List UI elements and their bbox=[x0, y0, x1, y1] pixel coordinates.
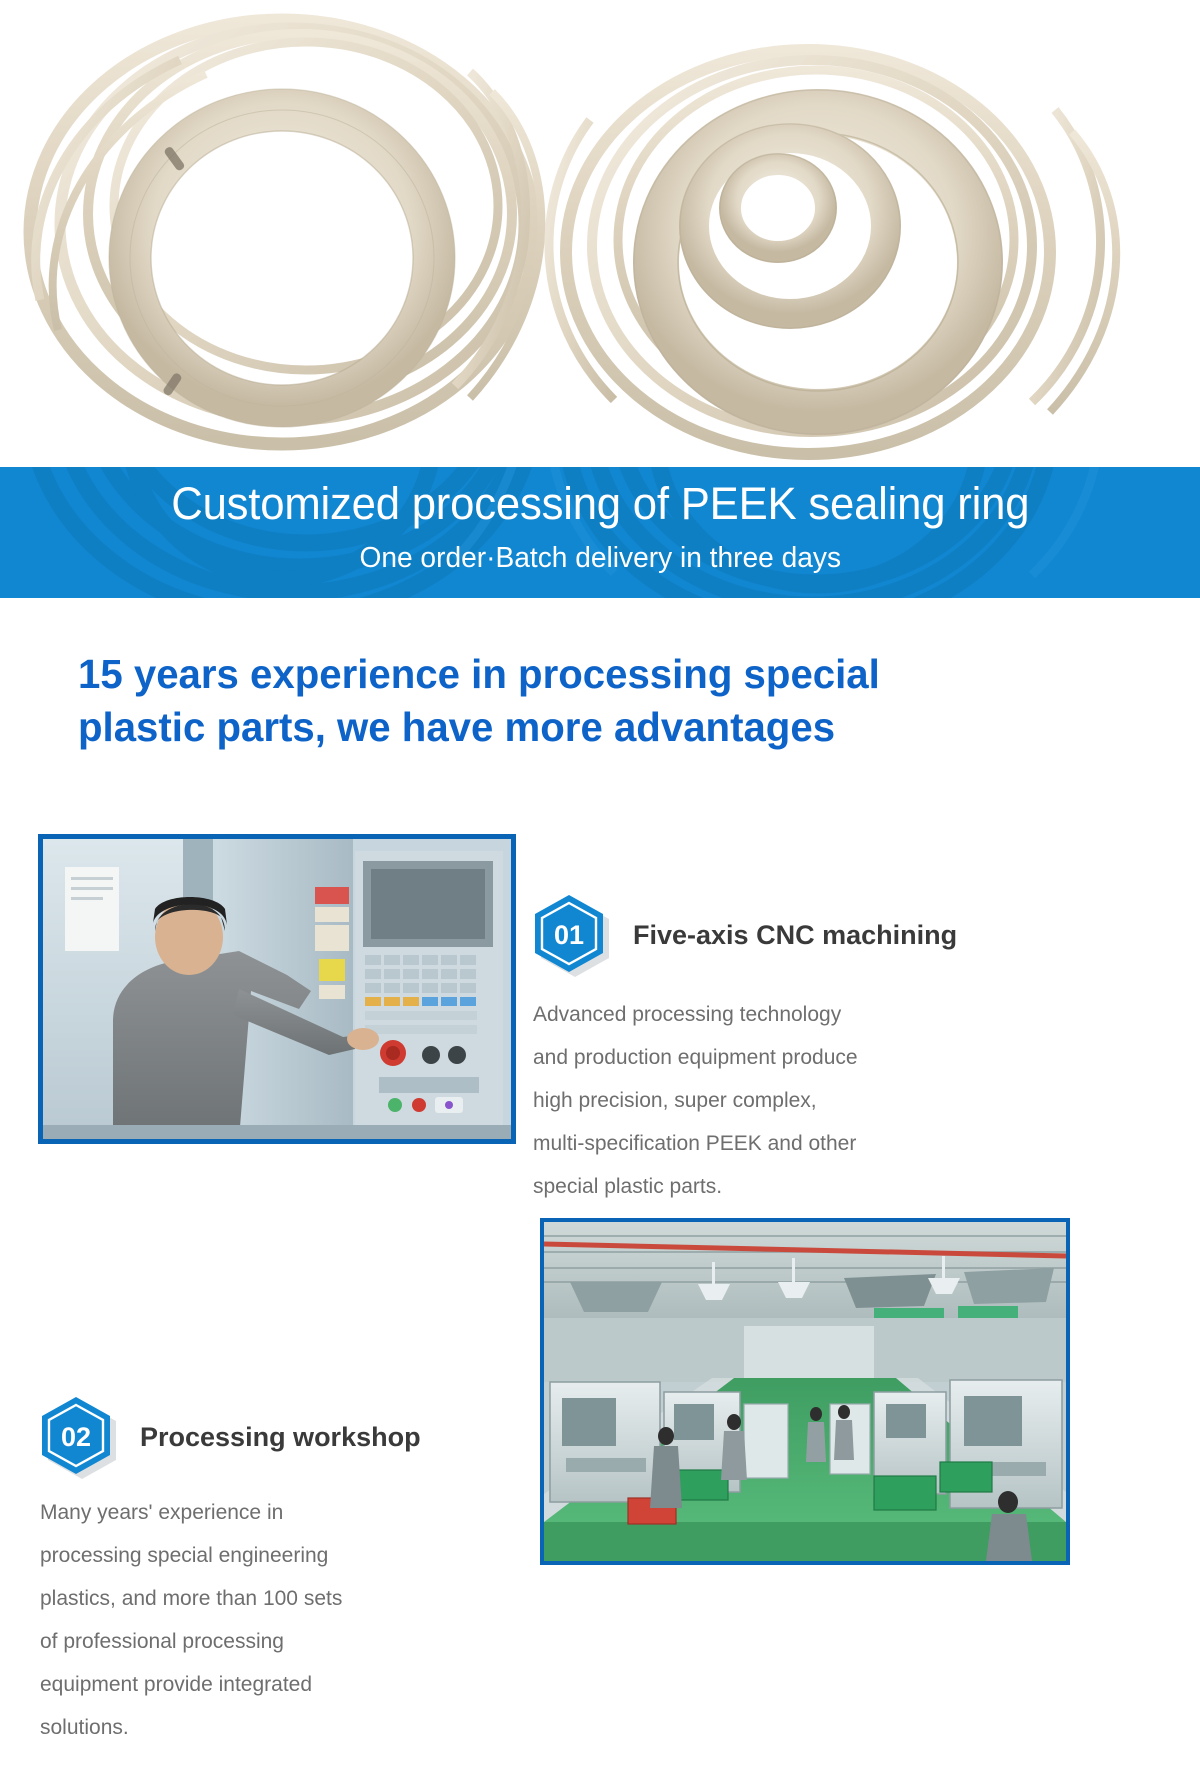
feature-01-body-line: high precision, super complex, bbox=[533, 1079, 1093, 1122]
hexagon-badge-icon: 02 bbox=[40, 1395, 118, 1479]
feature-01-body-line: Advanced processing technology bbox=[533, 993, 1093, 1036]
feature-01-body-line: multi-specification PEEK and other bbox=[533, 1122, 1093, 1165]
feature-01-body: Advanced processing technology and produ… bbox=[533, 993, 1093, 1208]
cnc-operator-photo bbox=[38, 834, 516, 1144]
feature-01-number: 01 bbox=[533, 893, 605, 977]
feature-02-body-line: plastics, and more than 100 sets bbox=[40, 1577, 510, 1620]
feature-02-body-line: processing special engineering bbox=[40, 1534, 510, 1577]
peek-rings-illustration bbox=[0, 0, 1200, 470]
banner-title: Customized processing of PEEK sealing ri… bbox=[171, 473, 1029, 535]
cnc-operator-illustration bbox=[43, 839, 511, 1139]
hero-product-photo bbox=[0, 0, 1200, 470]
feature-02-body: Many years' experience in processing spe… bbox=[40, 1491, 510, 1749]
feature-01-heading: 01 Five-axis CNC machining bbox=[533, 893, 1093, 977]
banner-subtitle: One order·Batch delivery in three days bbox=[359, 535, 841, 581]
hexagon-badge-icon: 01 bbox=[533, 893, 611, 977]
feature-block-01: 01 Five-axis CNC machining Advanced proc… bbox=[0, 834, 1200, 1164]
feature-02-body-line: equipment provide integrated bbox=[40, 1663, 510, 1706]
feature-02-body-line: of professional processing bbox=[40, 1620, 510, 1663]
hero-banner: Customized processing of PEEK sealing ri… bbox=[0, 467, 1200, 598]
workshop-illustration bbox=[544, 1222, 1066, 1561]
feature-02-number: 02 bbox=[40, 1395, 112, 1479]
feature-block-02: 02 Processing workshop Many years' exper… bbox=[0, 1218, 1200, 1638]
feature-02-heading: 02 Processing workshop bbox=[40, 1395, 510, 1479]
section-heading-line2: plastic parts, we have more advantages bbox=[78, 701, 1068, 754]
feature-01-body-line: and production equipment produce bbox=[533, 1036, 1093, 1079]
section-heading: 15 years experience in processing specia… bbox=[78, 648, 1088, 754]
feature-01-title: Five-axis CNC machining bbox=[633, 920, 957, 951]
product-detail-page: Customized processing of PEEK sealing ri… bbox=[0, 0, 1200, 1773]
feature-02-text: 02 Processing workshop Many years' exper… bbox=[40, 1395, 510, 1749]
section-heading-line1: 15 years experience in processing specia… bbox=[78, 648, 1068, 701]
processing-workshop-photo bbox=[540, 1218, 1070, 1565]
feature-01-body-line: special plastic parts. bbox=[533, 1165, 1093, 1208]
feature-02-body-line: Many years' experience in bbox=[40, 1491, 510, 1534]
feature-02-body-line: solutions. bbox=[40, 1706, 510, 1749]
feature-02-title: Processing workshop bbox=[140, 1422, 421, 1453]
feature-01-text: 01 Five-axis CNC machining Advanced proc… bbox=[533, 893, 1093, 1208]
